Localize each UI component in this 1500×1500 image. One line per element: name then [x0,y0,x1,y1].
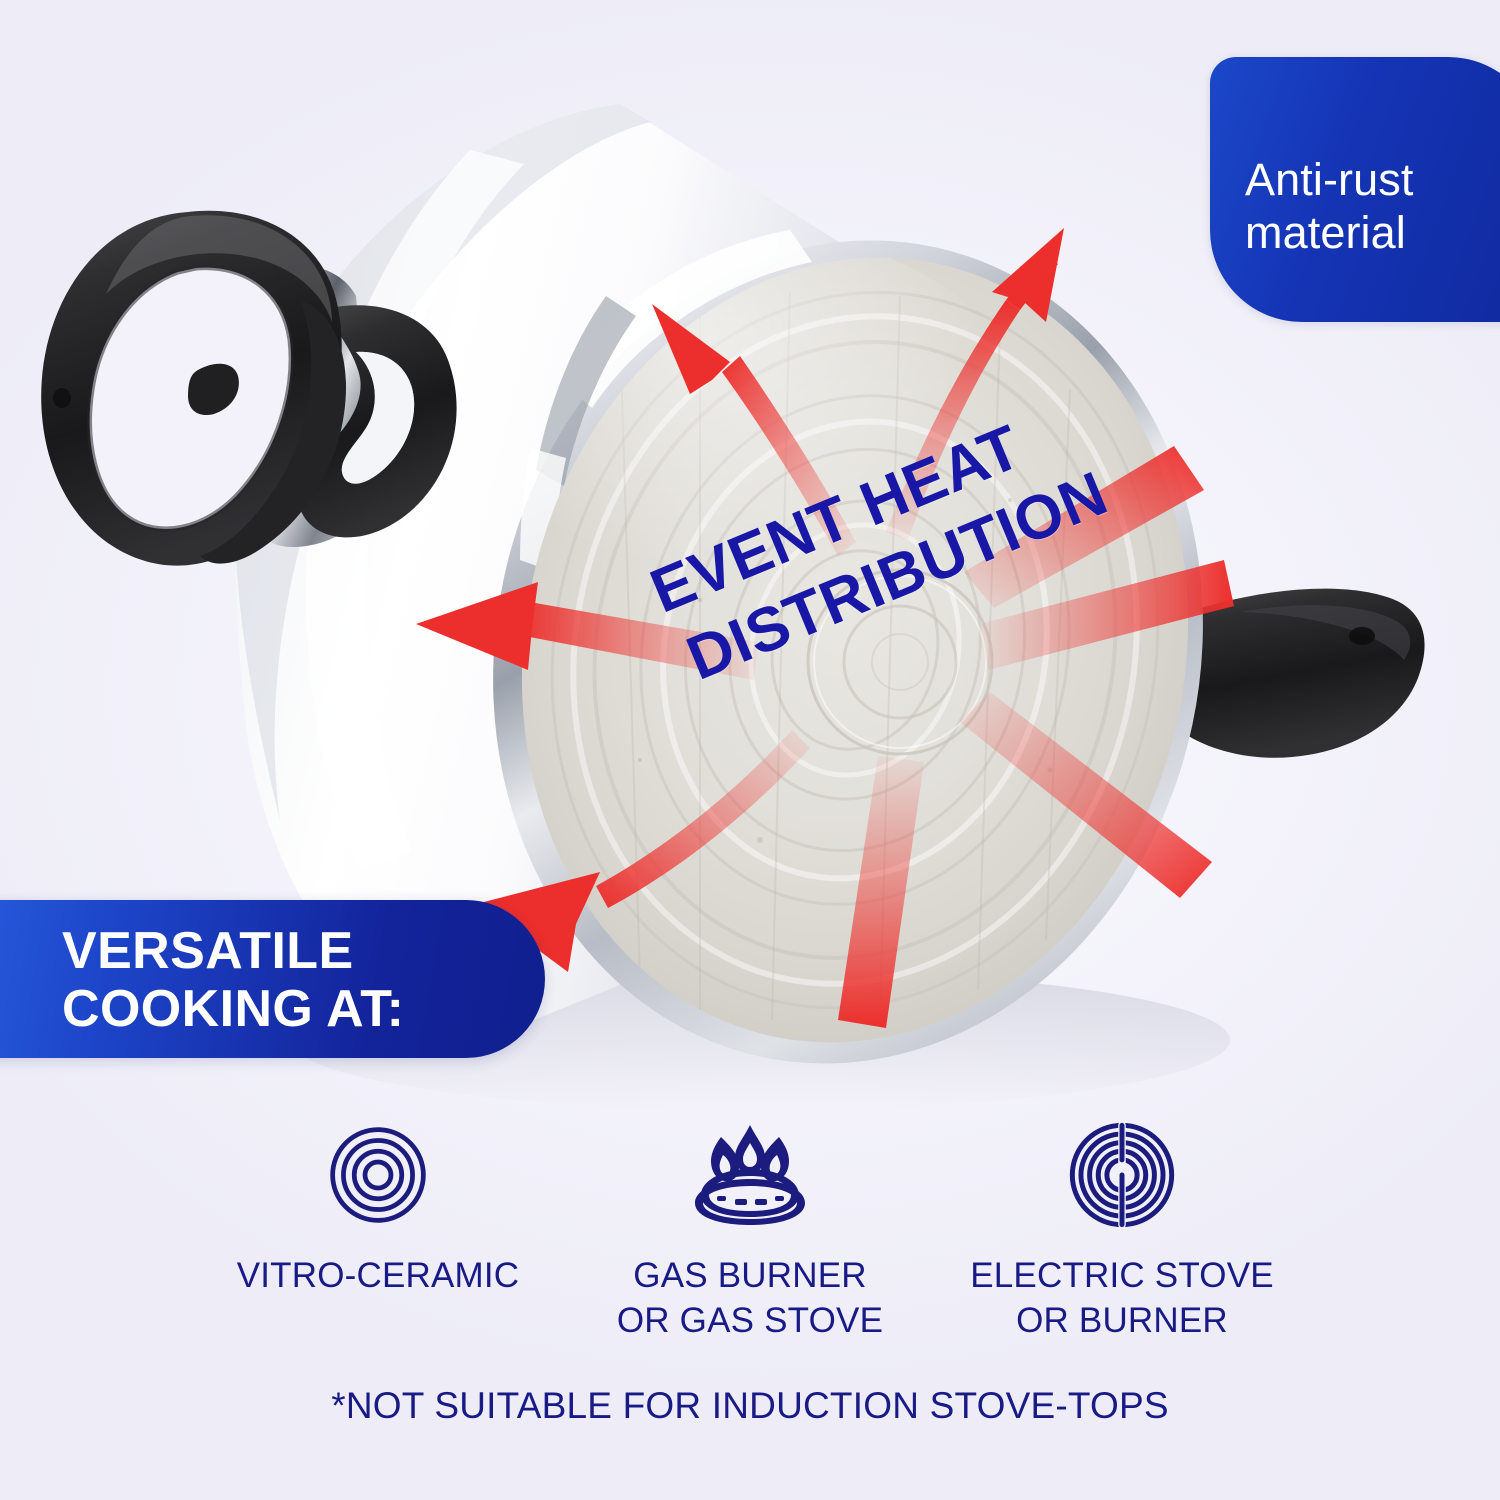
feature-label-gas-burner: GAS BURNER OR GAS STOVE [617,1254,883,1344]
electric-stove-icon [1068,1120,1176,1230]
versatile-line-1: VERSATILE [62,922,545,980]
induction-footnote: *NOT SUITABLE FOR INDUCTION STOVE-TOPS [0,1385,1500,1427]
feature-label-electric-stove: ELECTRIC STOVE OR BURNER [970,1254,1274,1344]
versatile-cooking-badge: VERSATILE COOKING AT: [0,900,545,1058]
versatile-line-2: COOKING AT: [62,980,545,1038]
cooking-surface-list: VITRO-CERAMIC [0,1120,1500,1344]
feature-vitro-ceramic: VITRO-CERAMIC [192,1120,564,1299]
gas-burner-icon [691,1120,809,1230]
feature-label-line-1: GAS BURNER [617,1254,883,1299]
feature-label-line-2: OR BURNER [970,1299,1274,1344]
anti-rust-line-2: material [1245,206,1500,259]
infographic-canvas: EVENT HEAT DISTRIBUTION Anti-rust materi… [0,0,1500,1500]
lid-handle-near [41,211,346,566]
feature-gas-burner: GAS BURNER OR GAS STOVE [564,1120,936,1344]
feature-label-line-1: ELECTRIC STOVE [970,1254,1274,1299]
feature-label-line-2: OR GAS STOVE [617,1299,883,1344]
vitro-ceramic-icon [324,1120,432,1230]
anti-rust-line-1: Anti-rust [1245,153,1500,206]
feature-electric-stove: ELECTRIC STOVE OR BURNER [936,1120,1308,1344]
anti-rust-badge: Anti-rust material [1210,57,1500,322]
feature-label-vitro-ceramic: VITRO-CERAMIC [237,1254,520,1299]
feature-label-line-1: VITRO-CERAMIC [237,1254,520,1299]
